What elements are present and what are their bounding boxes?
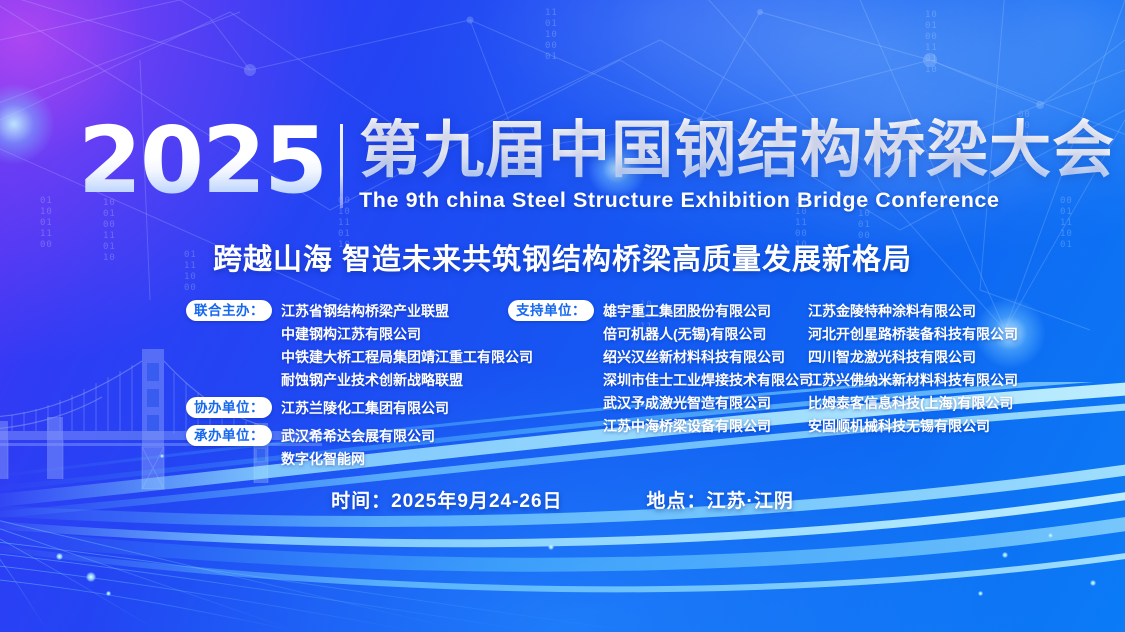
list-item: 深圳市佳士工业焊接技术有限公司 [603,369,813,392]
event-meta: 时间：2025年9月24-26日 地点：江苏·江阴 [0,486,1125,513]
title-divider [340,124,343,208]
event-location: 地点：江苏·江阴 [647,486,794,513]
sparkle-9 [160,454,164,458]
sparkle-8 [1090,580,1096,586]
organizer-column-middle: 支持单位： 雄宇重工集团股份有限公司 倍可机器人(无锡)有限公司 绍兴汉丝新材料… [508,300,813,443]
title-row: 2025 第九届中国钢结构桥梁大会 The 9th china Steel St… [78,118,1115,213]
list-item: 中铁建大桥工程局集团靖江重工有限公司 [281,346,533,369]
sparkle-6 [1048,533,1053,538]
page-title: 第九届中国钢结构桥梁大会 [359,118,1115,184]
list-item: 江苏中海桥梁设备有限公司 [603,415,813,438]
event-date: 时间：2025年9月24-26日 [331,486,562,513]
supporter-entries: 雄宇重工集团股份有限公司 倍可机器人(无锡)有限公司 绍兴汉丝新材料科技有限公司… [603,300,813,438]
list-item: 武汉希希达会展有限公司 [281,425,435,448]
organizer-column-right: 江苏金陵特种涂料有限公司 河北开创星路桥装备科技有限公司 四川智龙激光科技有限公… [808,300,1018,438]
slogan-text: 跨越山海 智造未来共筑钢结构桥梁高质量发展新格局 [0,236,1125,278]
organizer-group-co-host: 联合主办： 江苏省钢结构桥梁产业联盟 中建钢构江苏有限公司 中铁建大桥工程局集团… [186,300,533,392]
list-item: 倍可机器人(无锡)有限公司 [603,323,813,346]
list-item: 数字化智能网 [281,448,435,471]
list-item: 江苏兰陵化工集团有限公司 [281,397,449,420]
glow-dot-left [0,84,54,164]
list-item: 中建钢构江苏有限公司 [281,323,533,346]
list-item: 雄宇重工集团股份有限公司 [603,300,813,323]
year-text: 2025 [78,118,340,204]
sparkle-5 [1002,552,1008,558]
label-supporters: 支持单位： [508,300,594,321]
conference-banner: 01 10 01 11 00 10 01 00 11 01 10 01 11 1… [0,0,1125,632]
list-item: 武汉予成激光智造有限公司 [603,392,813,415]
organizer-column-left: 联合主办： 江苏省钢结构桥梁产业联盟 中建钢构江苏有限公司 中铁建大桥工程局集团… [186,300,533,476]
co-organizer-entries: 江苏兰陵化工集团有限公司 [281,397,449,420]
sparkle-4 [548,544,554,550]
list-item: 四川智龙激光科技有限公司 [808,346,1018,369]
sparkle-7 [978,591,983,596]
list-item: 江苏兴佛纳米新材料科技有限公司 [808,369,1018,392]
organizers-section: 联合主办： 江苏省钢结构桥梁产业联盟 中建钢构江苏有限公司 中铁建大桥工程局集团… [0,300,1125,450]
sparkle-2 [86,572,96,582]
title-block: 第九届中国钢结构桥梁大会 The 9th china Steel Structu… [359,118,1115,213]
list-item: 安固顺机械科技无锡有限公司 [808,415,1018,438]
subtitle-english: The 9th china Steel Structure Exhibition… [359,188,1115,213]
binary-column-10: 10 01 00 11 01 10 [925,10,938,76]
list-item: 绍兴汉丝新材料科技有限公司 [603,346,813,369]
organizer-group-co-organizer: 协办单位： 江苏兰陵化工集团有限公司 [186,397,533,420]
list-item: 江苏省钢结构桥梁产业联盟 [281,300,533,323]
undertaker-entries: 武汉希希达会展有限公司 数字化智能网 [281,425,435,471]
list-item: 比姆泰客信息科技(上海)有限公司 [808,392,1018,415]
organizer-group-supporters: 支持单位： 雄宇重工集团股份有限公司 倍可机器人(无锡)有限公司 绍兴汉丝新材料… [508,300,813,438]
label-co-organizer: 协办单位： [186,397,272,418]
list-item: 河北开创星路桥装备科技有限公司 [808,323,1018,346]
label-co-host: 联合主办： [186,300,272,321]
list-item: 江苏金陵特种涂料有限公司 [808,300,1018,323]
sparkle-1 [56,553,63,560]
label-undertaker: 承办单位： [186,425,272,446]
organizer-group-undertaker: 承办单位： 武汉希希达会展有限公司 数字化智能网 [186,425,533,471]
list-item: 耐蚀钢产业技术创新战略联盟 [281,369,533,392]
co-host-entries: 江苏省钢结构桥梁产业联盟 中建钢构江苏有限公司 中铁建大桥工程局集团靖江重工有限… [281,300,533,392]
binary-column-5: 11 01 10 00 01 [545,8,558,63]
sparkle-3 [106,591,111,596]
